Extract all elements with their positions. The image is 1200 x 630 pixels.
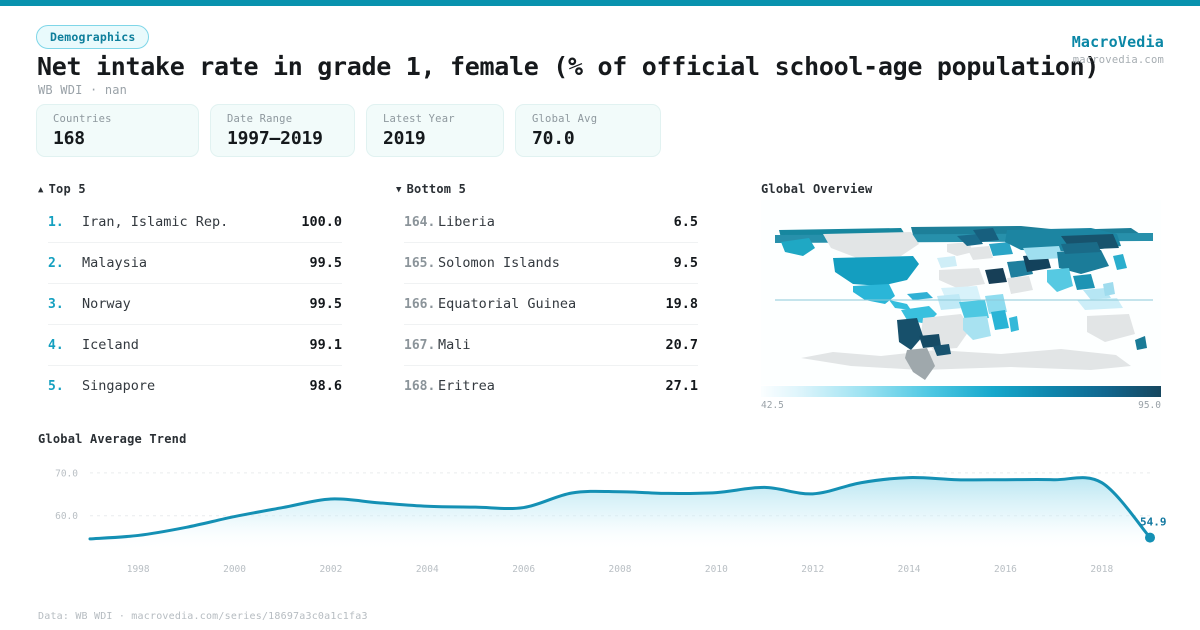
stat-value: 168	[53, 128, 182, 149]
list-item[interactable]: 165. Solomon Islands 9.5	[404, 243, 698, 284]
country-name: Iceland	[82, 337, 309, 353]
bottom5-heading-label: Bottom 5	[407, 182, 466, 196]
x-tick-label: 2006	[512, 564, 535, 575]
world-choropleth-map	[761, 200, 1161, 385]
triangle-down-icon: ▼	[396, 185, 402, 195]
stat-card-latest-year: Latest Year 2019	[366, 104, 504, 157]
country-value: 19.8	[665, 296, 698, 312]
map-colorbar	[761, 386, 1161, 397]
y-tick-label: 70.0	[55, 468, 78, 479]
page-subtitle: WB WDI · nan	[38, 83, 127, 97]
triangle-up-icon: ▲	[38, 185, 44, 195]
list-item[interactable]: 5. Singapore 98.6	[48, 366, 342, 406]
country-name: Norway	[82, 296, 309, 312]
trend-heading: Global Average Trend	[38, 432, 187, 446]
x-tick-label: 2000	[223, 564, 246, 575]
country-value: 100.0	[301, 214, 342, 230]
rank: 168.	[404, 379, 438, 394]
rank: 3.	[48, 297, 82, 312]
x-tick-label: 2010	[705, 564, 728, 575]
top-accent-bar	[0, 0, 1200, 6]
rank: 167.	[404, 338, 438, 353]
country-value: 20.7	[665, 337, 698, 353]
stat-label: Latest Year	[383, 113, 487, 125]
colorbar-min-label: 42.5	[761, 400, 784, 411]
stat-cards: Countries 168 Date Range 1997–2019 Lates…	[36, 104, 661, 157]
list-item[interactable]: 168. Eritrea 27.1	[404, 366, 698, 406]
country-value: 99.1	[309, 337, 342, 353]
y-tick-label: 60.0	[55, 511, 78, 522]
rank: 4.	[48, 338, 82, 353]
top5-heading: ▲Top 5	[38, 182, 86, 196]
bottom5-heading: ▼Bottom 5	[396, 182, 466, 196]
stat-value: 70.0	[532, 128, 644, 149]
stat-label: Date Range	[227, 113, 338, 125]
country-value: 99.5	[309, 296, 342, 312]
map-heading: Global Overview	[761, 182, 872, 196]
list-item[interactable]: 3. Norway 99.5	[48, 284, 342, 325]
footer-source: Data: WB WDI · macrovedia.com/series/186…	[38, 611, 368, 622]
country-name: Eritrea	[438, 378, 665, 394]
list-item[interactable]: 4. Iceland 99.1	[48, 325, 342, 366]
country-name: Iran, Islamic Rep.	[82, 214, 301, 230]
colorbar-max-label: 95.0	[1138, 400, 1161, 411]
chart-end-label: 54.9	[1140, 516, 1167, 529]
country-name: Malaysia	[82, 255, 309, 271]
country-name: Mali	[438, 337, 665, 353]
stat-label: Global Avg	[532, 113, 644, 125]
trend-svg: 60.070.0 54.9 19982000200220042006200820…	[0, 450, 1200, 590]
x-tick-label: 2018	[1090, 564, 1113, 575]
list-item[interactable]: 166. Equatorial Guinea 19.8	[404, 284, 698, 325]
x-tick-label: 2008	[609, 564, 632, 575]
map-svg	[761, 200, 1161, 385]
rank: 166.	[404, 297, 438, 312]
stat-card-countries: Countries 168	[36, 104, 199, 157]
list-item[interactable]: 164. Liberia 6.5	[404, 202, 698, 243]
x-tick-label: 2004	[416, 564, 439, 575]
top5-heading-label: Top 5	[49, 182, 86, 196]
rank: 1.	[48, 215, 82, 230]
bottom5-list: 164. Liberia 6.5 165. Solomon Islands 9.…	[404, 202, 698, 406]
brand-domain: macrovedia.com	[1073, 54, 1164, 66]
chart-x-axis-labels: 1998200020022004200620082010201220142016…	[127, 564, 1114, 575]
infographic-page: Demographics Net intake rate in grade 1,…	[0, 0, 1200, 630]
stat-value: 2019	[383, 128, 487, 149]
brand-logo[interactable]: MacroVedia	[1072, 33, 1164, 51]
x-tick-label: 2002	[319, 564, 342, 575]
country-value: 98.6	[309, 378, 342, 394]
x-tick-label: 2016	[994, 564, 1017, 575]
country-value: 99.5	[309, 255, 342, 271]
chart-end-point	[1145, 533, 1155, 543]
country-value: 6.5	[674, 214, 698, 230]
stat-value: 1997–2019	[227, 128, 338, 149]
list-item[interactable]: 167. Mali 20.7	[404, 325, 698, 366]
country-name: Singapore	[82, 378, 309, 394]
country-name: Liberia	[438, 214, 674, 230]
rank: 5.	[48, 379, 82, 394]
x-tick-label: 1998	[127, 564, 150, 575]
rank: 165.	[404, 256, 438, 271]
x-tick-label: 2012	[801, 564, 824, 575]
country-name: Solomon Islands	[438, 255, 674, 271]
global-average-trend-chart: 60.070.0 54.9 19982000200220042006200820…	[0, 450, 1200, 590]
country-value: 9.5	[674, 255, 698, 271]
rank: 2.	[48, 256, 82, 271]
chart-y-axis-labels: 60.070.0	[55, 468, 78, 522]
stat-label: Countries	[53, 113, 182, 125]
category-badge[interactable]: Demographics	[36, 25, 149, 49]
rank: 164.	[404, 215, 438, 230]
country-name: Equatorial Guinea	[438, 296, 665, 312]
top5-list: 1. Iran, Islamic Rep. 100.0 2. Malaysia …	[48, 202, 342, 406]
page-title: Net intake rate in grade 1, female (% of…	[37, 52, 1037, 81]
list-item[interactable]: 1. Iran, Islamic Rep. 100.0	[48, 202, 342, 243]
list-item[interactable]: 2. Malaysia 99.5	[48, 243, 342, 284]
x-tick-label: 2014	[898, 564, 921, 575]
stat-card-global-avg: Global Avg 70.0	[515, 104, 661, 157]
country-value: 27.1	[665, 378, 698, 394]
stat-card-date-range: Date Range 1997–2019	[210, 104, 355, 157]
